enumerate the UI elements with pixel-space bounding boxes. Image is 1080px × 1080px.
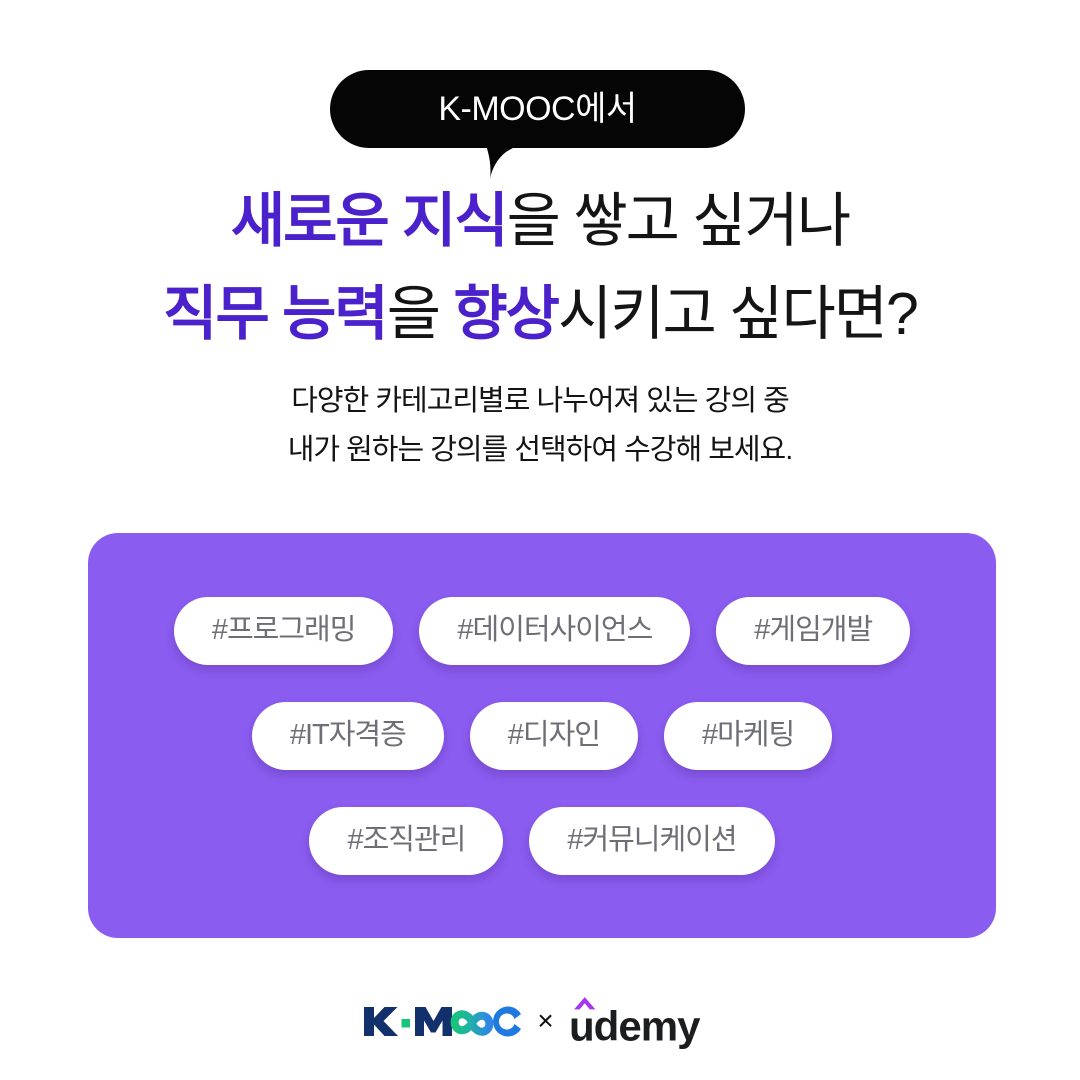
kmooc-logo-icon: [361, 998, 526, 1044]
headline-line-2: 직무 능력을 향상시키고 싶다면?: [0, 268, 1080, 361]
tag-pill[interactable]: #프로그래밍: [174, 597, 394, 665]
tag-pill[interactable]: #조직관리: [309, 807, 503, 875]
tag-pill[interactable]: #게임개발: [716, 597, 910, 665]
tag-label: #마케팅: [702, 721, 794, 750]
tag-pill[interactable]: #IT자격증: [252, 702, 444, 770]
speech-bubble-label: K-MOOC에서: [438, 92, 636, 126]
subtitle: 다양한 카테고리별로 나누어져 있는 강의 중 내가 원하는 강의를 선택하여 …: [0, 377, 1080, 475]
poster-canvas: K-MOOC에서 새로운 지식을 쌓고 싶거나 직무 능력을 향상시키고 싶다면…: [0, 0, 1080, 1080]
svg-text:udemy: udemy: [569, 1002, 701, 1048]
logo-separator: ×: [537, 1007, 553, 1035]
headline-accent-1: 새로운 지식: [231, 188, 507, 254]
footer-logo-lockup: × udemy: [0, 985, 1080, 1057]
tag-pill[interactable]: #마케팅: [664, 702, 832, 770]
headline-accent-3: 향상: [453, 281, 558, 347]
headline: 새로운 지식을 쌓고 싶거나 직무 능력을 향상시키고 싶다면?: [0, 175, 1080, 361]
tag-row-1: #프로그래밍 #데이터사이언스 #게임개발: [174, 597, 910, 665]
tag-pill[interactable]: #커뮤니케이션: [529, 807, 774, 875]
category-card: #프로그래밍 #데이터사이언스 #게임개발 #IT자격증 #디자인 #마케팅 #…: [88, 533, 996, 938]
subtitle-line-2: 내가 원하는 강의를 선택하여 수강해 보세요.: [0, 426, 1080, 475]
tag-row-2: #IT자격증 #디자인 #마케팅: [252, 702, 832, 770]
headline-plain-2: 을: [387, 281, 454, 347]
tag-pill[interactable]: #디자인: [470, 702, 638, 770]
tag-label: #커뮤니케이션: [567, 826, 736, 855]
subtitle-line-1: 다양한 카테고리별로 나누어져 있는 강의 중: [0, 377, 1080, 426]
headline-accent-2: 직무 능력: [163, 281, 387, 347]
headline-plain-3: 시키고 싶다면?: [558, 281, 917, 347]
tag-row-3: #조직관리 #커뮤니케이션: [309, 807, 774, 875]
headline-plain-1: 을 쌓고 싶거나: [507, 188, 849, 254]
tag-pill[interactable]: #데이터사이언스: [419, 597, 690, 665]
tag-label: #프로그래밍: [212, 616, 356, 645]
tag-label: #게임개발: [754, 616, 872, 645]
speech-bubble-badge: K-MOOC에서: [330, 70, 745, 148]
tag-label: #디자인: [508, 721, 600, 750]
tag-label: #조직관리: [347, 826, 465, 855]
tag-label: #IT자격증: [290, 721, 406, 750]
udemy-logo-icon: udemy: [567, 994, 719, 1049]
tag-label: #데이터사이언스: [457, 616, 652, 645]
speech-bubble-tail-icon: [480, 130, 550, 180]
headline-line-1: 새로운 지식을 쌓고 싶거나: [0, 175, 1080, 268]
